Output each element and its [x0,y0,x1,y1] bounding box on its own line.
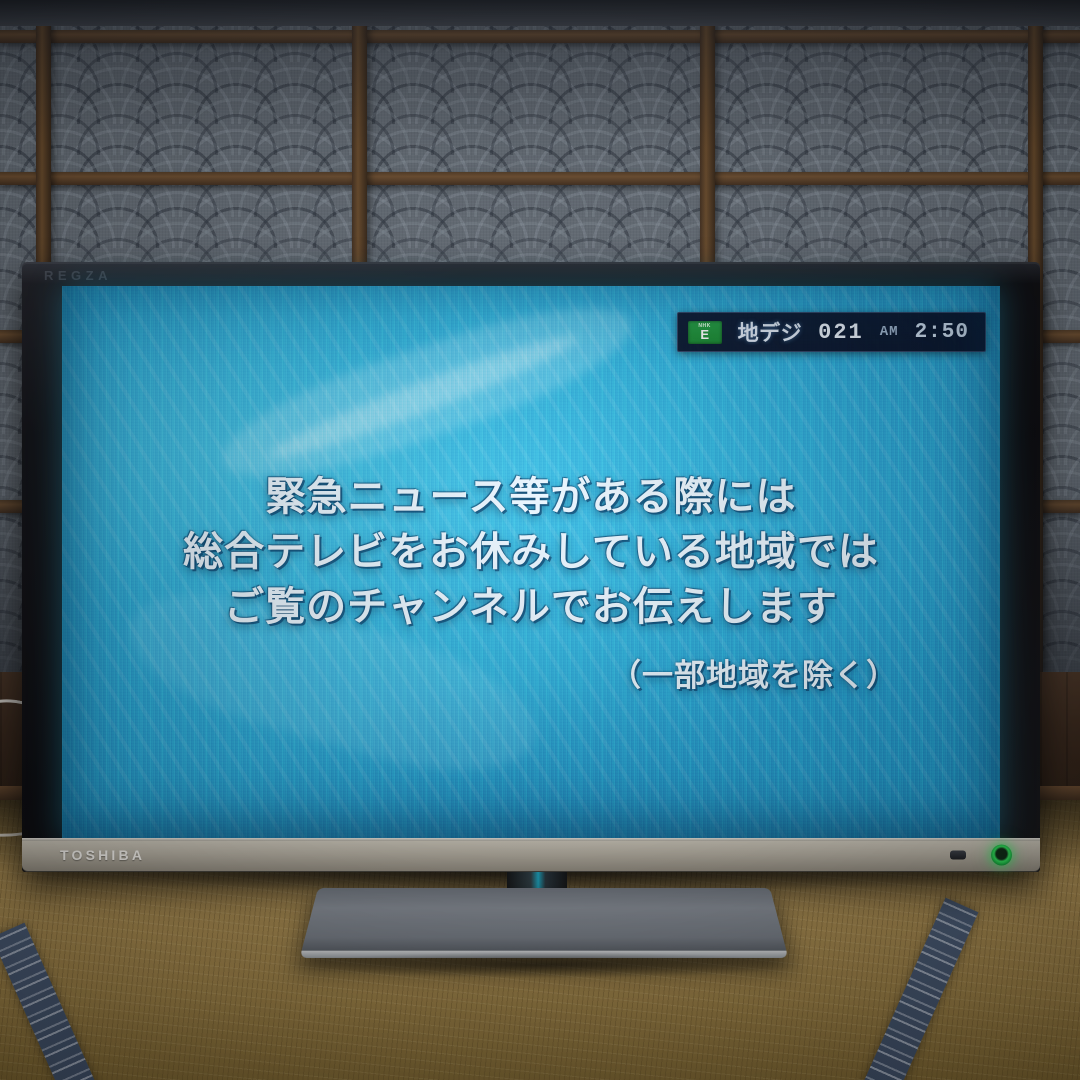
badge-letter: E [700,328,709,341]
tv-stand-shadow [290,952,800,978]
osd-channel-banner: NHK E 地デジ 021 AM 2:50 [677,312,986,352]
wall-top-shadow [0,0,1080,26]
photo-scene: REGZA NHK E 地デジ 021 AM 2:50 緊急ニュ [0,0,1080,1080]
ir-receiver-icon [950,851,966,860]
chin-highlight-edge [22,838,1040,841]
message-line-1: 緊急ニュース等がある際には [118,470,944,525]
osd-channel-number: 021 [818,320,864,345]
tv-stand-base [300,888,789,958]
tv-bottom-bezel: TOSHIBA [22,838,1040,872]
power-led-indicator [991,845,1012,866]
regza-logo: REGZA [44,268,112,283]
bezel-top-gloss [22,262,1040,284]
television: REGZA NHK E 地デジ 021 AM 2:50 緊急ニュ [22,262,1040,872]
message-line-2: 総合テレビをお休みしている地域では [118,525,944,580]
toshiba-logo: TOSHIBA [60,847,145,863]
broadcast-message: 緊急ニュース等がある際には 総合テレビをお休みしている地域では ご覧のチャンネル… [62,470,1000,695]
osd-source-label: 地デジ [738,317,803,347]
message-note: （一部地域を除く） [118,650,944,695]
osd-meridiem: AM [880,324,899,340]
tv-screen: NHK E 地デジ 021 AM 2:50 緊急ニュース等がある際には 総合テレ… [62,286,1000,840]
osd-clock: 2:50 [915,321,969,344]
broadcaster-logo-badge: NHK E [688,321,722,344]
message-line-3: ご覧のチャンネルでお伝えします [118,580,944,635]
